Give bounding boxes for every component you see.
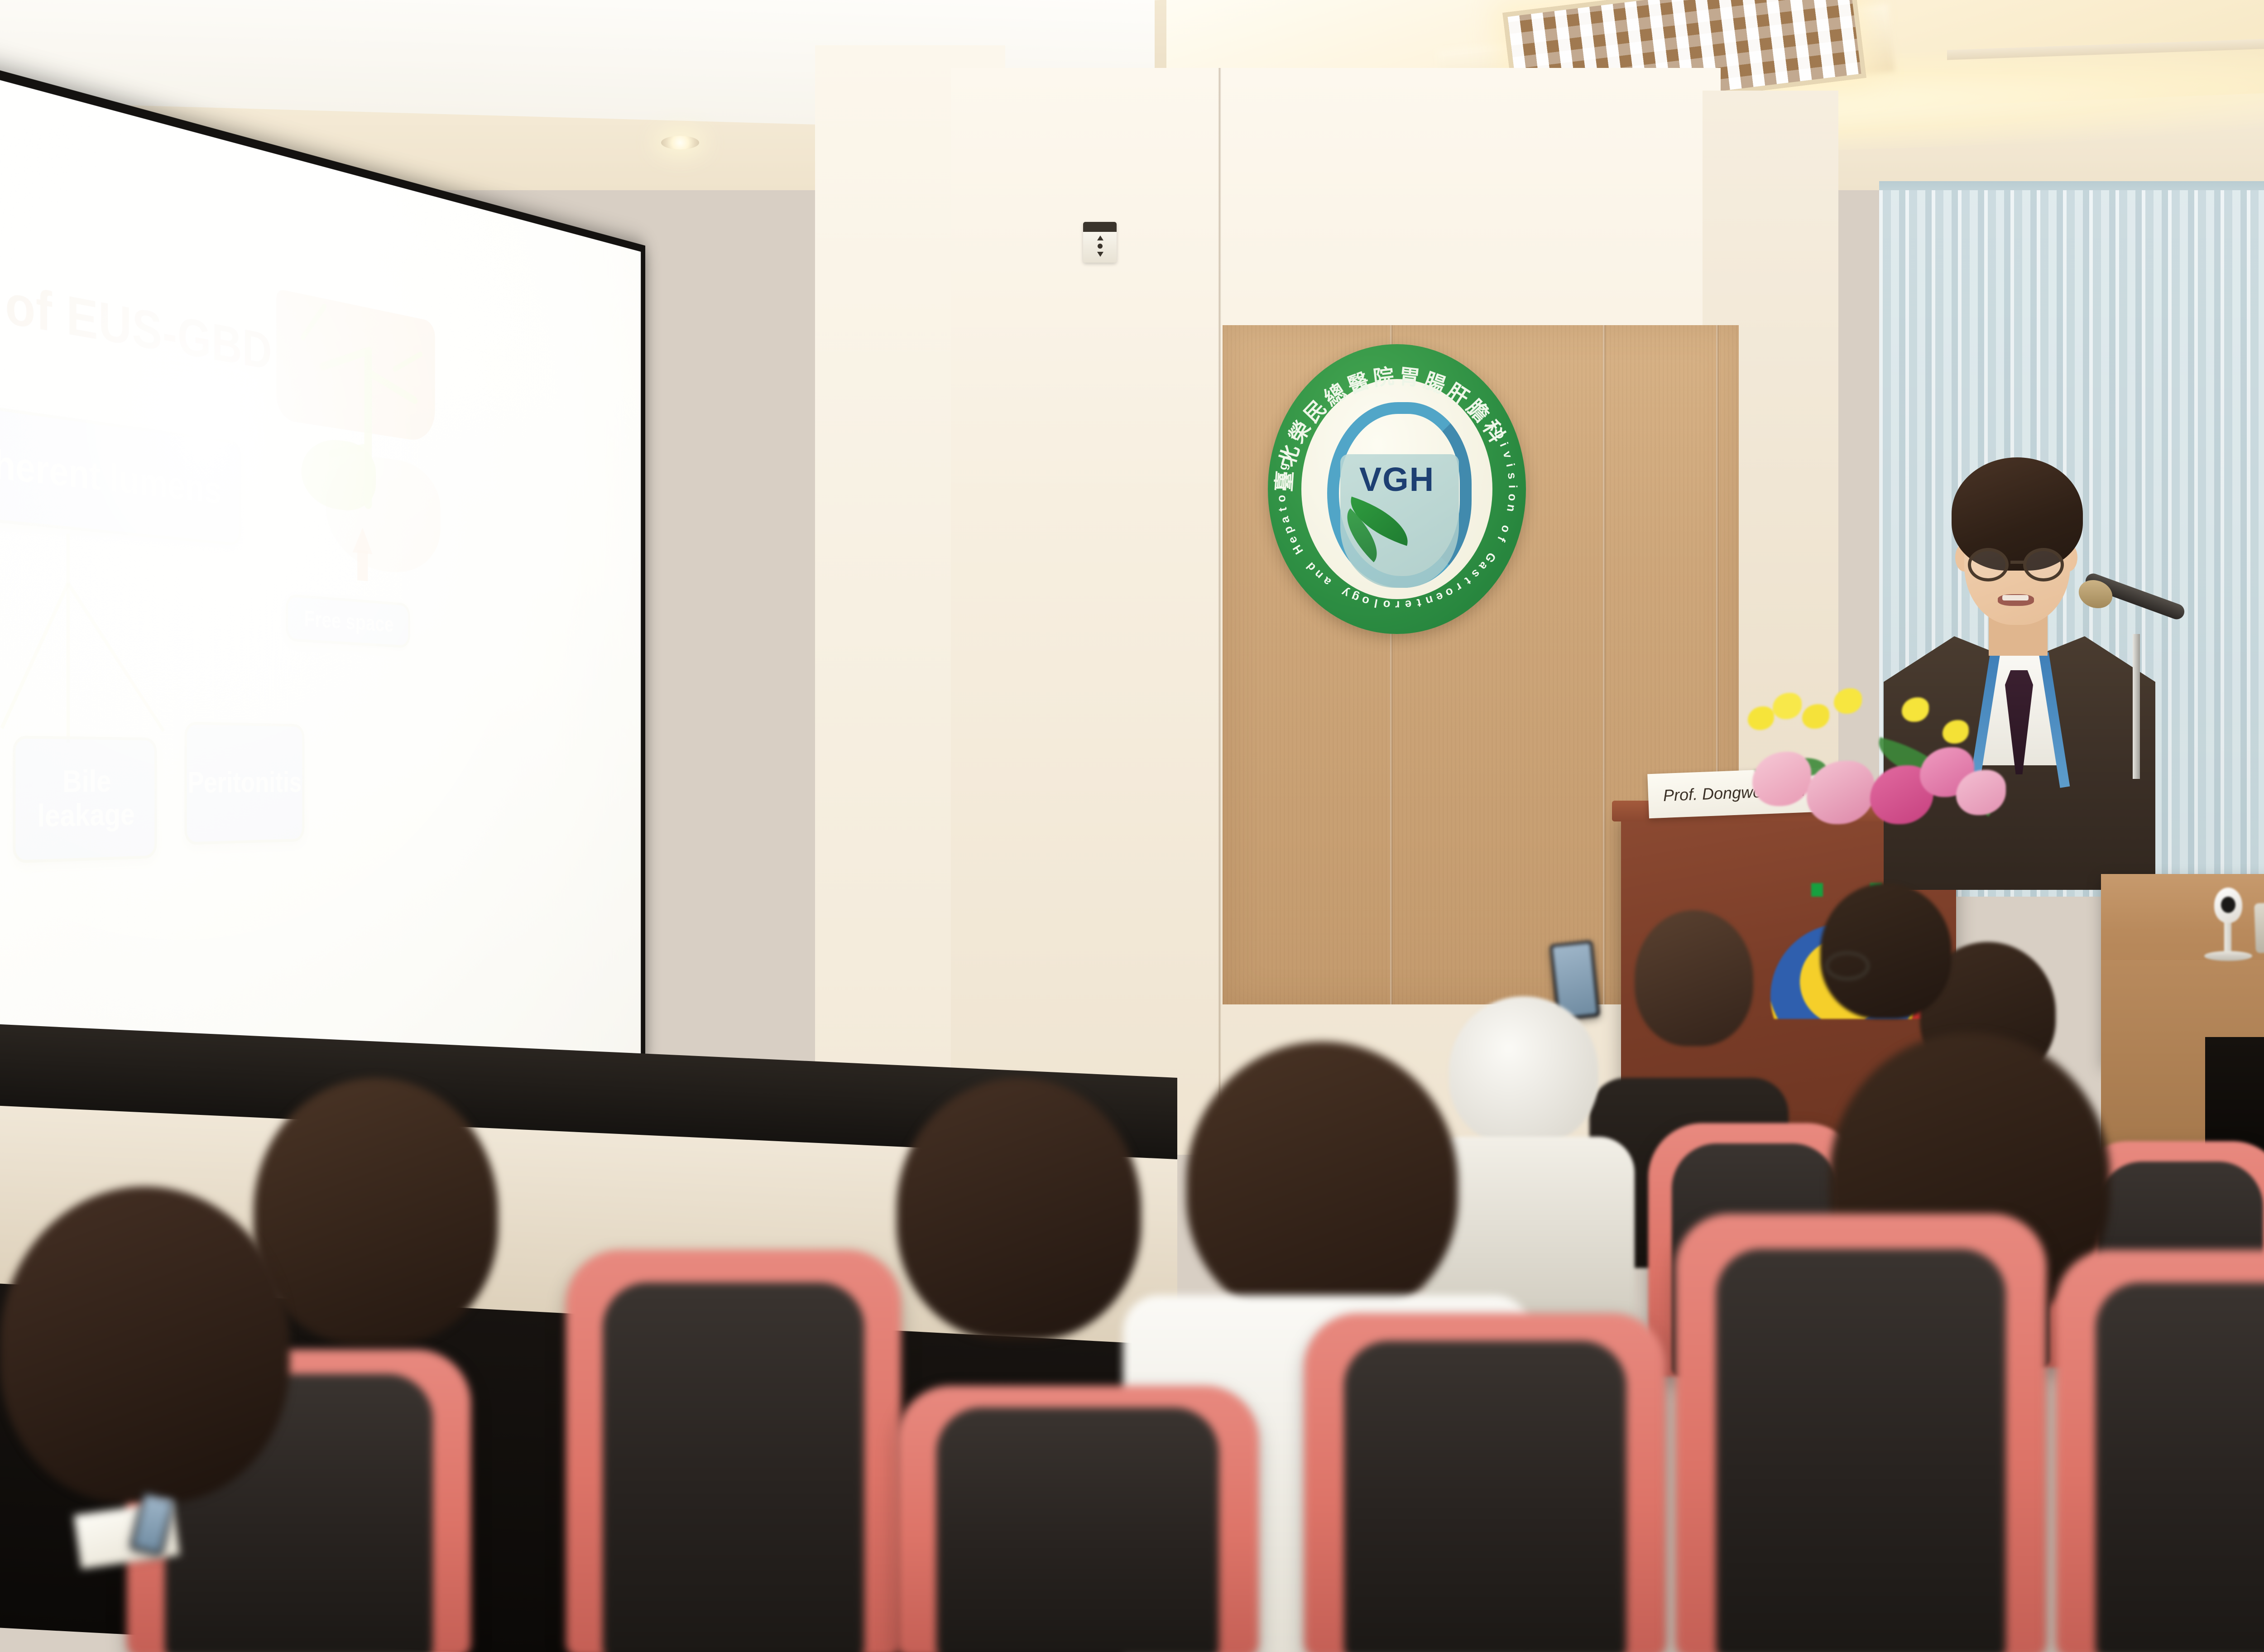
- chair-seat: [936, 1407, 1219, 1652]
- flow-arrow-stem: [357, 550, 368, 581]
- logo-ring-glyph: y: [1339, 585, 1352, 600]
- slide-outcome-box-peritonitis: Peritonitis: [184, 721, 304, 845]
- chair-seat: [1716, 1249, 2006, 1652]
- audience-chair[interactable]: [2056, 1250, 2264, 1652]
- logo-acronym: VGH: [1268, 460, 1526, 499]
- logo-ring-glyph: a: [1320, 574, 1333, 589]
- logo-ring-glyph: g: [1349, 590, 1361, 605]
- webcam-stem: [2224, 919, 2231, 955]
- audience-member-foreground: [0, 1186, 308, 1652]
- screen-up-icon[interactable]: [1097, 235, 1103, 240]
- yellow-orchid: [1773, 693, 1802, 719]
- logo-ring-glyph: H: [1290, 542, 1306, 557]
- audience-hair: [1186, 1042, 1458, 1322]
- logo-ring-glyph: r: [1395, 598, 1400, 612]
- screen-down-icon[interactable]: [1097, 252, 1103, 257]
- webcam-lens: [2221, 897, 2235, 913]
- presentation-slide: ges of EUS-GBD on-adherent lumens ion Bi…: [0, 66, 641, 1165]
- logo-ring-glyph: e: [1434, 589, 1445, 605]
- logo-ring-glyph: p: [1281, 524, 1296, 536]
- slide-connector-line: [67, 582, 165, 732]
- liver-illustration: [276, 288, 435, 443]
- logo-ring-glyph: r: [1453, 580, 1465, 594]
- audience-member: [897, 1078, 1150, 1395]
- switch-header: [1083, 222, 1117, 232]
- logo-ring-glyph: a: [1277, 515, 1293, 525]
- presenter-teeth: [2002, 595, 2029, 600]
- slide-main-concept-box: on-adherent lumens: [0, 389, 241, 546]
- logo-ring-glyph: l: [1373, 596, 1379, 610]
- webcam-base: [2204, 951, 2252, 961]
- logo-ring-glyph: o: [1360, 593, 1371, 608]
- pink-orchid: [1752, 752, 1811, 806]
- logo-ring-glyph: s: [1469, 567, 1483, 581]
- yellow-orchid: [1748, 706, 1774, 730]
- microphone-stand: [2133, 634, 2140, 779]
- eyeglasses-icon: [1968, 548, 2009, 581]
- slide-connector-line: [67, 533, 70, 586]
- yellow-orchid: [1802, 704, 1829, 729]
- logo-ring-glyph: t: [1462, 574, 1474, 588]
- ceiling-downlight: [661, 136, 699, 149]
- lecture-hall-photo: 臺北榮民總醫院胃腸肝膽科 Division of Gastroenterolog…: [0, 0, 2264, 1652]
- slide-outcome-box-bile-leakage: Bile leakage: [13, 735, 157, 863]
- logo-ring-glyph: D: [1491, 427, 1507, 442]
- audience-chair[interactable]: [897, 1386, 1259, 1652]
- projection-screen: ges of EUS-GBD on-adherent lumens ion Bi…: [0, 54, 645, 1177]
- logo-ring-glyph: t: [1416, 595, 1422, 610]
- audience-hair: [1820, 883, 1952, 1019]
- logo-ring-glyph: o: [1498, 523, 1514, 535]
- slide-title: ges of EUS-GBD: [0, 251, 272, 382]
- biliary-anatomy-illustration: [264, 270, 451, 588]
- audience-chair[interactable]: [1675, 1214, 2047, 1652]
- screen-control-switch[interactable]: [1083, 222, 1117, 263]
- audience-hair: [897, 1078, 1141, 1340]
- wood-panel-seam: [1603, 325, 1606, 1004]
- logo-ring-glyph: n: [1424, 593, 1435, 608]
- monitor: [2254, 899, 2264, 953]
- chair-seat: [1344, 1341, 1626, 1652]
- audience-chair[interactable]: [1304, 1313, 1666, 1652]
- chair-seat: [603, 1282, 864, 1652]
- flower-arrangement: [1739, 679, 2019, 842]
- wall-seam: [1218, 68, 1221, 1109]
- eyeglasses-bridge: [2010, 561, 2024, 564]
- logo-ring-glyph: t: [1276, 506, 1290, 513]
- logo-ring-glyph: f: [1494, 534, 1509, 544]
- eyeglasses-icon: [2023, 548, 2064, 581]
- logo-ring-glyph: [1502, 515, 1516, 522]
- slide-connector-line: [67, 583, 70, 743]
- audience-member-photographer: [1616, 910, 1766, 1105]
- logo-ring-glyph: e: [1404, 597, 1412, 612]
- screen-surface: ges of EUS-GBD on-adherent lumens ion Bi…: [0, 66, 641, 1165]
- chair-seat: [2096, 1282, 2264, 1652]
- slide-free-space-label: Free space: [286, 594, 410, 648]
- yellow-orchid: [1902, 697, 1929, 722]
- logo-ring-glyph: i: [1497, 440, 1511, 449]
- audience-hair: [0, 1186, 290, 1503]
- audience-hair: [1635, 910, 1753, 1046]
- audience-chair[interactable]: [566, 1250, 901, 1652]
- logo-ring-glyph: [1490, 543, 1503, 553]
- vgh-department-logo: 臺北榮民總醫院胃腸肝膽科 Division of Gastroenterolog…: [1268, 344, 1526, 634]
- logo-ring-glyph: n: [1504, 504, 1519, 513]
- logo-ring-glyph: o: [1382, 597, 1391, 612]
- logo-ring-glyph: v: [1500, 449, 1515, 460]
- logo-ring-glyph: o: [1443, 585, 1456, 600]
- yellow-orchid: [1834, 688, 1862, 714]
- presenter-hair: [1952, 457, 2083, 571]
- audience-hair: [1449, 996, 1598, 1146]
- slide-connector-line: [0, 582, 69, 729]
- logo-ring-glyph: [1331, 581, 1341, 594]
- yellow-orchid: [1943, 720, 1969, 744]
- logo-ring-glyph: [1297, 553, 1310, 564]
- eyeglasses-icon: [1825, 951, 1870, 981]
- screen-stop-icon[interactable]: [1098, 244, 1103, 249]
- logo-ring-glyph: y: [1278, 451, 1294, 461]
